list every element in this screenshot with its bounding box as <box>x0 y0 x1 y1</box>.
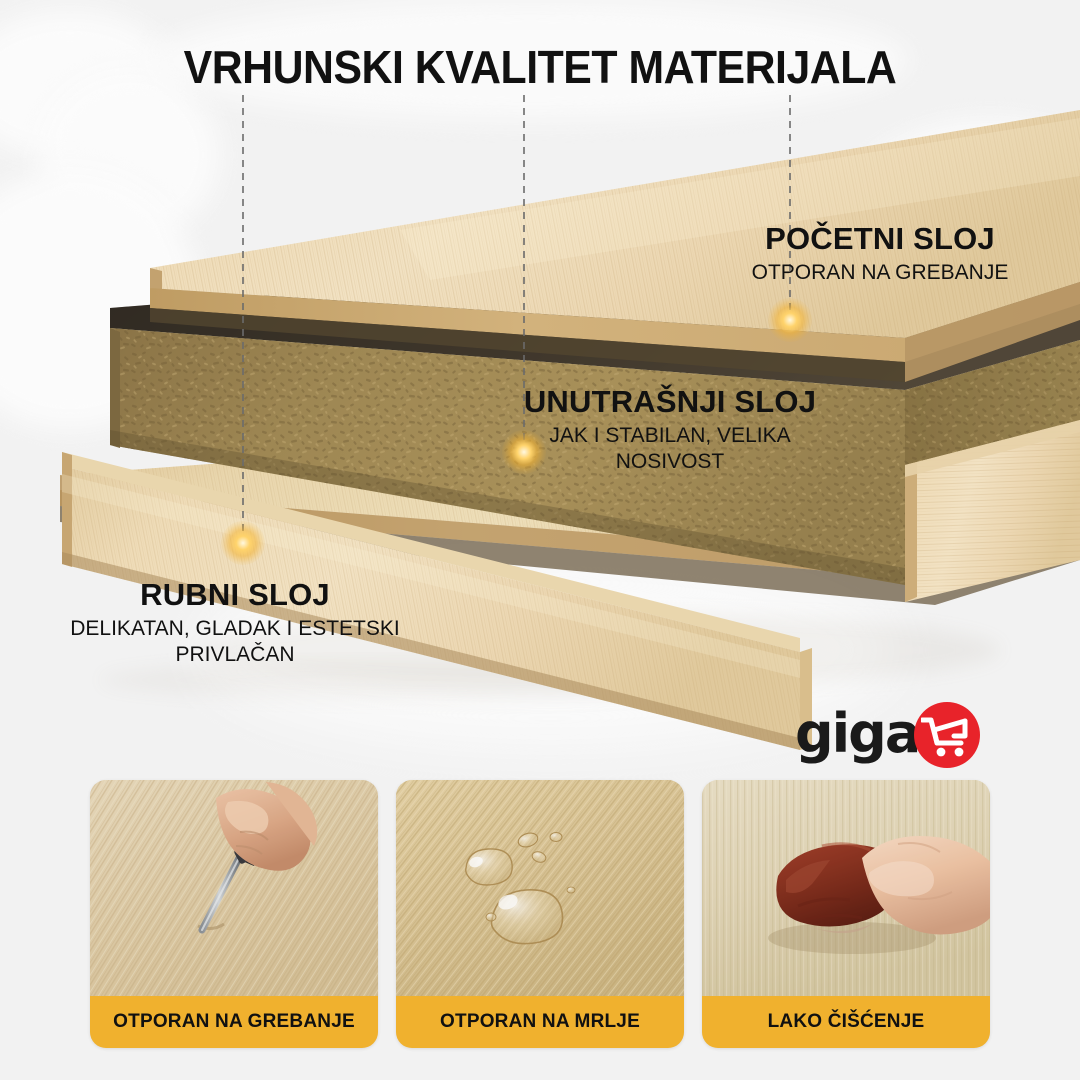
stain-photo <box>396 780 684 996</box>
callout-dot-top <box>768 298 812 342</box>
feature-card-stain[interactable]: OTPORAN NA MRLJE <box>396 780 684 1048</box>
page-title: VRHUNSKI KVALITET MATERIJALA <box>38 40 1042 94</box>
callout-top-layer-subtitle: OTPORAN NA GREBANJE <box>690 260 1070 286</box>
callout-edge-layer-subtitle: DELIKATAN, GLADAK I ESTETSKI PRIVLAČAN <box>35 616 435 669</box>
callout-top-layer-title: POČETNI SLOJ <box>690 222 1070 256</box>
feature-card-stain-caption: OTPORAN NA MRLJE <box>396 996 684 1048</box>
callout-top-layer: POČETNI SLOJ OTPORAN NA GREBANJE <box>690 222 1070 286</box>
shopping-cart-icon <box>914 702 980 768</box>
scratch-photo <box>90 780 378 996</box>
brand-logo-text: giga <box>795 707 919 761</box>
callout-core-layer: UNUTRAŠNJI SLOJ JAK I STABILAN, VELIKA N… <box>410 385 930 476</box>
cleaning-photo <box>702 780 990 996</box>
feature-card-cleaning[interactable]: LAKO ČIŠĆENJE <box>702 780 990 1048</box>
feature-card-cleaning-caption: LAKO ČIŠĆENJE <box>702 996 990 1048</box>
feature-cards: OTPORAN NA GREBANJE <box>0 780 1080 1048</box>
feature-card-scratch-caption: OTPORAN NA GREBANJE <box>90 996 378 1048</box>
callout-core-layer-subtitle: JAK I STABILAN, VELIKA NOSIVOST <box>505 423 835 476</box>
callout-dot-edge <box>221 521 265 565</box>
callout-edge-layer-title: RUBNI SLOJ <box>10 578 460 612</box>
feature-card-scratch[interactable]: OTPORAN NA GREBANJE <box>90 780 378 1048</box>
brand-logo[interactable]: giga <box>795 698 980 770</box>
callout-edge-layer: RUBNI SLOJ DELIKATAN, GLADAK I ESTETSKI … <box>10 578 460 669</box>
callout-core-layer-title: UNUTRAŠNJI SLOJ <box>410 385 930 419</box>
